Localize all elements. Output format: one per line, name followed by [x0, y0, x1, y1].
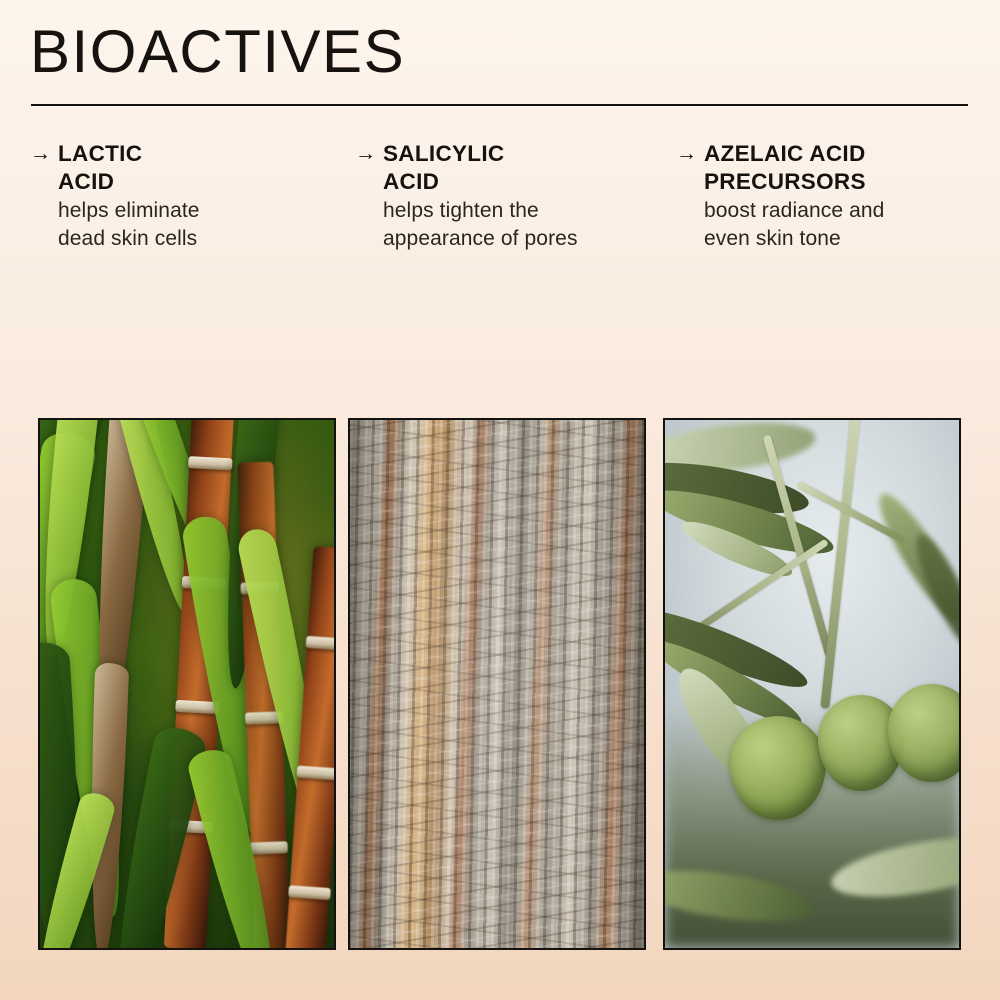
bioactive-name: SALICYLICACID [383, 140, 638, 196]
bioactive-name: AZELAIC ACIDPRECURSORS [704, 140, 951, 196]
sugarcane-scene [40, 420, 334, 948]
bioactive-description: helps tighten theappearance of pores [383, 197, 638, 252]
arrow-right-icon: → [676, 140, 704, 252]
page-title: BIOACTIVES [30, 22, 405, 82]
sugarcane-photo [38, 418, 336, 950]
arrow-right-icon: → [355, 140, 383, 252]
bioactive-name: LACTICACID [58, 140, 325, 196]
bioactive-text-group: AZELAIC ACIDPRECURSORS boost radiance an… [704, 140, 951, 252]
bioactive-item-salicylic-acid: → SALICYLICACID helps tighten theappeara… [343, 140, 656, 252]
bioactive-description: boost radiance andeven skin tone [704, 197, 951, 252]
bioactive-text-group: LACTICACID helps eliminatedead skin cell… [58, 140, 325, 252]
olive-branch-photo [663, 418, 961, 950]
bioactive-text-group: SALICYLICACID helps tighten theappearanc… [383, 140, 638, 252]
photo-row [38, 418, 963, 950]
bioactive-item-azelaic-acid-precursors: → AZELAIC ACIDPRECURSORS boost radiance … [656, 140, 969, 252]
olive-branch-scene [665, 420, 959, 948]
bioactive-item-lactic-acid: → LACTICACID helps eliminatedead skin ce… [30, 140, 343, 252]
willow-bark-scene [350, 420, 644, 948]
bioactives-infographic: BIOACTIVES → LACTICACID helps eliminated… [0, 0, 1000, 1000]
arrow-right-icon: → [30, 140, 58, 252]
bioactives-list: → LACTICACID helps eliminatedead skin ce… [30, 140, 970, 252]
bioactive-description: helps eliminatedead skin cells [58, 197, 325, 252]
title-divider [31, 104, 968, 106]
willow-bark-photo [348, 418, 646, 950]
